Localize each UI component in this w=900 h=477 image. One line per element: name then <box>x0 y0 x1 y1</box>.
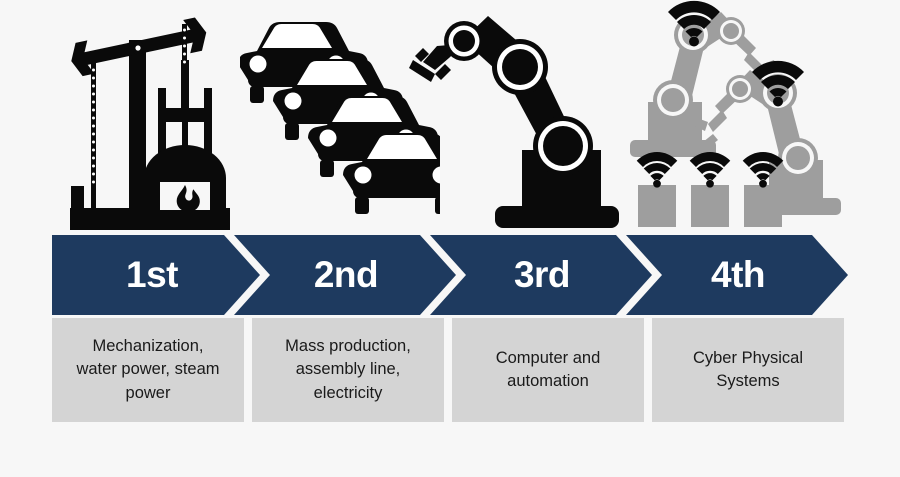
arrow-segment-1 <box>52 235 260 315</box>
arrow-segment-2 <box>234 235 456 315</box>
description-box-2: Mass production, assembly line, electric… <box>252 318 444 422</box>
arrow-segment-4 <box>626 235 848 315</box>
wifi-icon <box>637 152 678 188</box>
description-text-2: Mass production, assembly line, electric… <box>285 335 411 405</box>
description-text-3: Computer and automation <box>496 347 601 394</box>
steam-engine-icon <box>52 0 248 235</box>
infographic-canvas: 1st 2nd 3rd 4th Mechanization, water pow… <box>0 0 900 477</box>
timeline-arrow-banner <box>52 235 848 315</box>
description-text-1: Mechanization, water power, steam power <box>76 335 219 405</box>
connected-robots-wifi-icon <box>618 0 853 235</box>
description-text-4: Cyber Physical Systems <box>693 347 803 394</box>
industrial-robot-arm-icon <box>405 0 620 235</box>
wifi-icon <box>690 152 731 188</box>
description-box-1: Mechanization, water power, steam power <box>52 318 244 422</box>
description-box-4: Cyber Physical Systems <box>652 318 844 422</box>
icon-row <box>0 0 900 235</box>
arrow-segment-3 <box>430 235 652 315</box>
description-row: Mechanization, water power, steam power … <box>52 318 848 422</box>
description-box-3: Computer and automation <box>452 318 644 422</box>
